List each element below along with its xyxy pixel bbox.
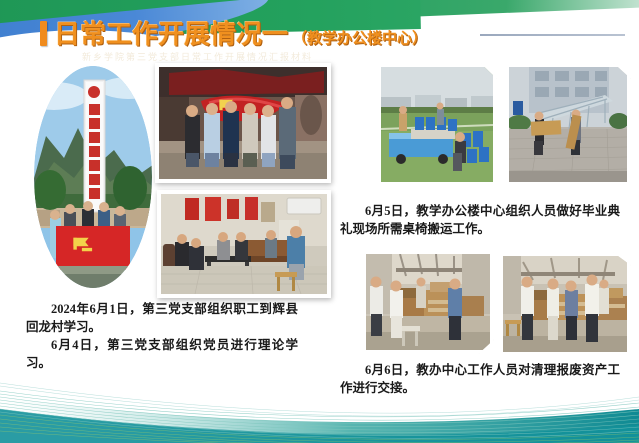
photo-scrap-asset-handover-a[interactable]	[362, 250, 494, 354]
caption-right-top-line-1: 6月5日，教学办公楼中心组织人员做好毕业典礼现场所需桌椅搬运工作。	[340, 202, 620, 238]
photo-artwork	[34, 66, 152, 288]
photo-artwork	[366, 254, 490, 350]
page-title: 日常工作开展情况一	[54, 14, 288, 51]
title-divider-line	[480, 34, 625, 36]
photo-artwork	[509, 67, 627, 182]
caption-right-top-block: 6月5日，教学办公楼中心组织人员做好毕业典礼现场所需桌椅搬运工作。	[340, 202, 620, 238]
oval-photo-party-flag-academy-gate[interactable]	[34, 66, 152, 288]
slide-title: 日常工作开展情况一 （教学办公楼中心）	[40, 14, 427, 51]
background-watermark-text: 新乡学院第三党支部日常工作开展情况汇报材料	[82, 50, 502, 64]
caption-left-line-2: 6月4日，第三党支部组织党员进行理论学习。	[26, 336, 298, 372]
photo-moving-chairs-on-field[interactable]	[377, 63, 497, 186]
title-accent-bar-icon	[40, 21, 47, 46]
photo-artwork	[161, 194, 327, 294]
photo-artwork	[503, 256, 627, 352]
photo-carrying-wooden-boards[interactable]	[505, 63, 631, 186]
slide-canvas: 日常工作开展情况一 （教学办公楼中心） 新乡学院第三党支部日常工作开展情况汇报材…	[0, 0, 639, 443]
caption-right-bottom-line-1: 6月6日，教办中心工作人员对清理报废资产工作进行交接。	[340, 361, 620, 397]
photo-artwork	[381, 67, 493, 182]
caption-right-bottom-block: 6月6日，教办中心工作人员对清理报废资产工作进行交接。	[340, 361, 620, 397]
photo-group-in-party-exhibition-hall[interactable]	[155, 63, 331, 183]
page-subtitle: （教学办公楼中心）	[292, 27, 427, 48]
photo-theory-study-meeting[interactable]	[157, 190, 331, 298]
caption-left-block: 2024年6月1日，第三党支部组织职工到辉县回龙村学习。 6月4日，第三党支部组…	[26, 300, 298, 373]
photo-artwork	[159, 67, 327, 179]
caption-left-line-1: 2024年6月1日，第三党支部组织职工到辉县回龙村学习。	[26, 300, 298, 336]
photo-scrap-asset-handover-b[interactable]	[499, 252, 631, 356]
